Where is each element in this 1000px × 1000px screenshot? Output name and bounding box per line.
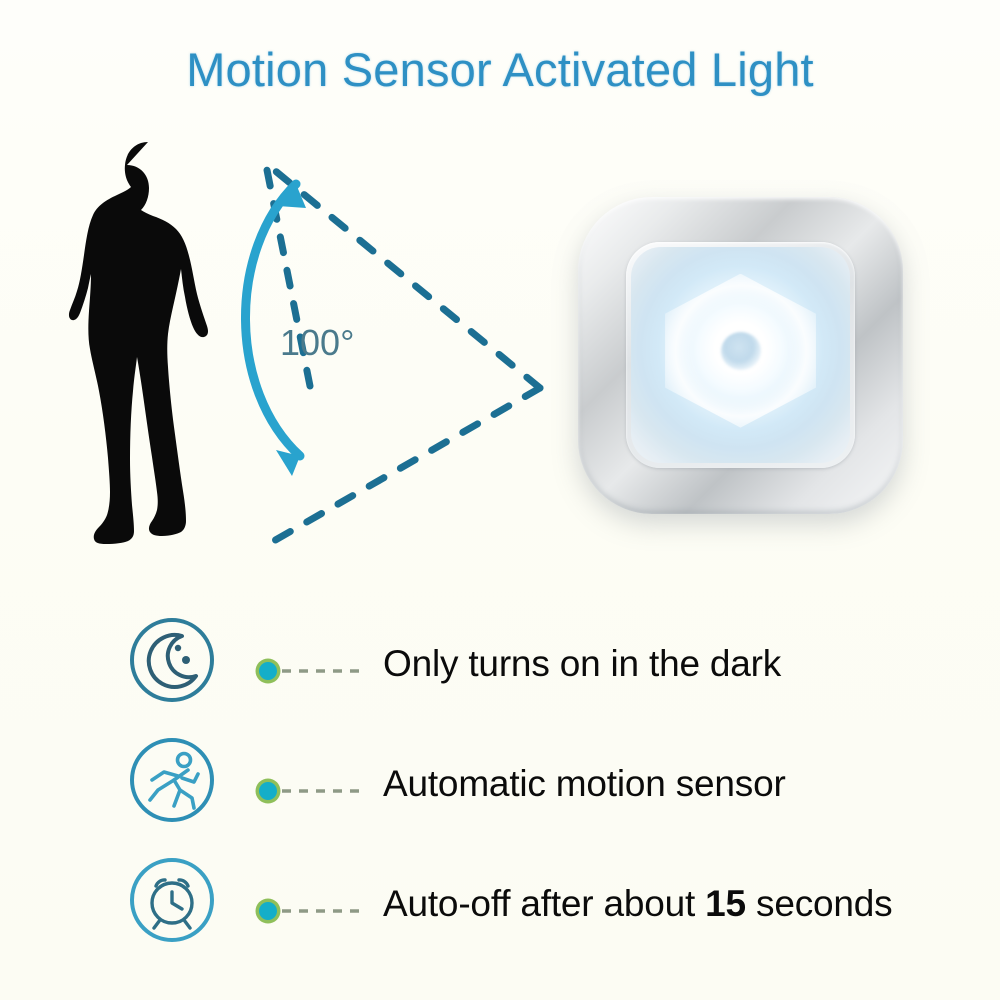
running-person-icon [128, 736, 216, 824]
feature-row: Only turns on in the dark [0, 608, 1000, 728]
motion-sensor-dome [721, 332, 761, 370]
feature-row: Automatic motion sensor [0, 728, 1000, 848]
walking-person-silhouette [69, 142, 208, 544]
feature-label-prefix: Auto-off after about [383, 883, 705, 924]
device-lens [631, 247, 850, 463]
feature-label: Automatic motion sensor [383, 763, 786, 805]
feature-label-suffix: seconds [746, 883, 893, 924]
device-lens-frame [626, 242, 855, 468]
feature-connector [255, 898, 365, 924]
alarm-clock-icon [128, 856, 216, 944]
angle-label: 100° [280, 322, 354, 363]
feature-label: Only turns on in the dark [383, 643, 781, 685]
led-night-light [578, 197, 903, 514]
feature-label-text: Automatic motion sensor [383, 763, 786, 804]
page-title: Motion Sensor Activated Light [0, 42, 1000, 97]
product-infographic: Motion Sensor Activated Light 100° [0, 0, 1000, 1000]
feature-row: Auto-off after about 15 seconds [0, 848, 1000, 968]
feature-connector [255, 778, 365, 804]
feature-list: Only turns on in the dark [0, 608, 1000, 968]
feature-label-text: Only turns on in the dark [383, 643, 781, 684]
feature-label-emphasis: 15 [705, 883, 746, 924]
feature-label: Auto-off after about 15 seconds [383, 883, 892, 925]
moon-icon [128, 616, 216, 704]
feature-connector [255, 658, 365, 684]
